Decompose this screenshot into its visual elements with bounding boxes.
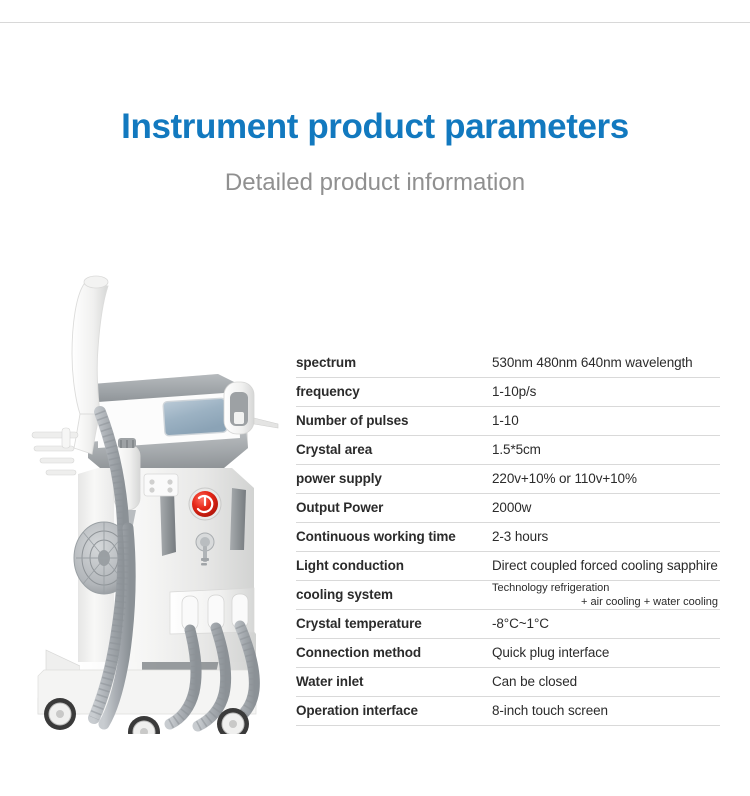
spec-label: spectrum [296, 348, 492, 377]
spec-value-line-2: + air cooling + water cooling [492, 595, 720, 609]
connector-ports-left [32, 428, 78, 475]
spec-value: 220v+10% or 110v+10% [492, 464, 720, 493]
specification-table: spectrum 530nm 480nm 640nm wavelength fr… [296, 348, 720, 726]
specification-table-body: spectrum 530nm 480nm 640nm wavelength fr… [296, 348, 720, 725]
spec-label: Continuous working time [296, 522, 492, 551]
spec-label: Light conduction [296, 551, 492, 580]
table-row: Number of pulses 1-10 [296, 406, 720, 435]
table-row: Continuous working time 2-3 hours [296, 522, 720, 551]
castor-wheel [128, 716, 160, 734]
top-divider [0, 22, 750, 23]
table-row: Light conduction Direct coupled forced c… [296, 551, 720, 580]
page-title: Instrument product parameters [0, 105, 750, 149]
table-row: spectrum 530nm 480nm 640nm wavelength [296, 348, 720, 377]
table-row: frequency 1-10p/s [296, 377, 720, 406]
spec-value: Technology refrigeration + air cooling +… [492, 580, 720, 609]
spec-label: cooling system [296, 580, 492, 609]
spec-label: Connection method [296, 638, 492, 667]
port-plate [144, 474, 178, 496]
table-row: Crystal area 1.5*5cm [296, 435, 720, 464]
spec-label: Water inlet [296, 667, 492, 696]
spec-value: Quick plug interface [492, 638, 720, 667]
page-subtitle: Detailed product information [0, 167, 750, 199]
spec-label: power supply [296, 464, 492, 493]
spec-label: Number of pulses [296, 406, 492, 435]
table-row: Output Power 2000w [296, 493, 720, 522]
table-row: Connection method Quick plug interface [296, 638, 720, 667]
table-row: Crystal temperature -8°C~1°C [296, 609, 720, 638]
spec-value: 1-10p/s [492, 377, 720, 406]
spec-value: -8°C~1°C [492, 609, 720, 638]
spec-value: Can be closed [492, 667, 720, 696]
spec-label: frequency [296, 377, 492, 406]
spec-label: Output Power [296, 493, 492, 522]
spec-value: 2000w [492, 493, 720, 522]
product-photo [18, 262, 294, 734]
table-row: cooling system Technology refrigeration … [296, 580, 720, 609]
machine-handle-right [230, 488, 246, 550]
table-row: Operation interface 8-inch touch screen [296, 696, 720, 725]
spec-value: 530nm 480nm 640nm wavelength [492, 348, 720, 377]
spec-label: Crystal area [296, 435, 492, 464]
spec-label: Operation interface [296, 696, 492, 725]
machine-handle-left [160, 490, 176, 556]
product-photo-illustration [18, 262, 294, 734]
emergency-stop-button[interactable] [189, 488, 221, 520]
spec-value: 1.5*5cm [492, 435, 720, 464]
spec-value: 2-3 hours [492, 522, 720, 551]
spec-label: Crystal temperature [296, 609, 492, 638]
spec-value: 1-10 [492, 406, 720, 435]
touch-screen[interactable] [163, 398, 227, 436]
spec-value: 8-inch touch screen [492, 696, 720, 725]
castor-wheel [44, 698, 76, 730]
table-row: power supply 220v+10% or 110v+10% [296, 464, 720, 493]
table-row: Water inlet Can be closed [296, 667, 720, 696]
spec-value: Direct coupled forced cooling sapphire [492, 551, 720, 580]
console-handpiece-right [224, 382, 278, 434]
spec-value-line-1: Technology refrigeration [492, 581, 720, 595]
